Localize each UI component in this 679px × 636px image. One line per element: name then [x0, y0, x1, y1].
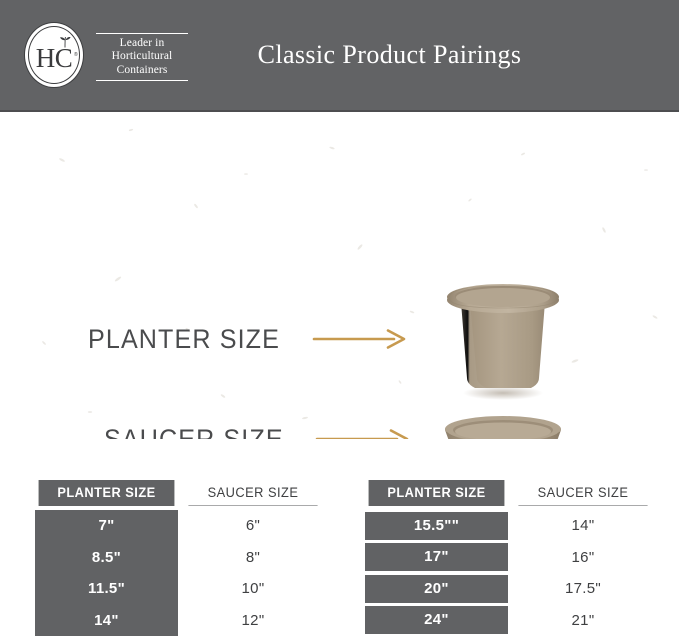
cell-saucer-size: 8": [185, 542, 321, 574]
column-header-planter-size: PLANTER SIZE: [39, 480, 175, 506]
table-body: 15.5"" 14" 17" 16" 20" 17.5" 24" 21": [365, 510, 650, 636]
logo-tagline-line-2: Horticultural: [96, 50, 188, 64]
cell-saucer-size: 6": [185, 510, 321, 542]
column-header-saucer-size: SAUCER SIZE: [518, 480, 647, 506]
hero-texture: [0, 112, 679, 439]
header-bar: HC ® Leader in Horticultural Containers …: [0, 0, 679, 112]
size-tables: PLANTER SIZE SAUCER SIZE 7" 6" 8.5" 8" 1…: [0, 480, 679, 636]
cell-planter-size: 11.5": [35, 573, 178, 605]
table-header-row: PLANTER SIZE SAUCER SIZE: [35, 480, 320, 506]
cell-planter-size: 17": [365, 543, 508, 571]
cell-planter-size: 15.5"": [365, 512, 508, 540]
table-row: 8.5" 8": [35, 542, 320, 574]
registered-mark-icon: ®: [74, 52, 78, 58]
cell-saucer-size: 12": [185, 605, 321, 636]
hero-panel: PLANTER SIZE: [0, 112, 679, 439]
cell-saucer-size: 16": [515, 542, 651, 574]
logo-tagline: Leader in Horticultural Containers: [96, 33, 188, 82]
cell-planter-size: 14": [35, 605, 178, 636]
logo-tagline-line-1: Leader in: [96, 37, 188, 51]
right-arrow-icon: [312, 328, 407, 350]
cell-saucer-size: 21": [515, 605, 651, 636]
column-header-planter-size: PLANTER SIZE: [369, 480, 505, 506]
size-table-small: PLANTER SIZE SAUCER SIZE 7" 6" 8.5" 8" 1…: [35, 480, 320, 636]
column-header-saucer-size: SAUCER SIZE: [188, 480, 317, 506]
table-header-row: PLANTER SIZE SAUCER SIZE: [365, 480, 650, 506]
cell-planter-size: 8.5": [35, 542, 178, 574]
table-row: 24" 21": [365, 605, 650, 636]
cell-planter-size: 24": [365, 606, 508, 634]
product-pairings-infographic: HC ® Leader in Horticultural Containers …: [0, 0, 679, 636]
cell-planter-size: 7": [35, 510, 178, 542]
table-row: 15.5"" 14": [365, 510, 650, 542]
size-table-large: PLANTER SIZE SAUCER SIZE 15.5"" 14" 17" …: [365, 480, 650, 636]
table-row: 20" 17.5": [365, 573, 650, 605]
cell-saucer-size: 14": [515, 510, 651, 542]
saucer-dish-icon: [437, 412, 569, 439]
logo-tagline-line-3: Containers: [96, 64, 188, 78]
planter-pot-icon: [437, 278, 569, 400]
cell-planter-size: 20": [365, 575, 508, 603]
table-row: 14" 12": [35, 605, 320, 636]
callout-saucer-label: SAUCER SIZE: [104, 424, 284, 440]
table-body: 7" 6" 8.5" 8" 11.5" 10" 14" 12": [35, 510, 320, 636]
logo-mark: HC ®: [22, 20, 90, 94]
brand-logo: HC ® Leader in Horticultural Containers: [22, 22, 188, 92]
table-row: 7" 6": [35, 510, 320, 542]
cell-saucer-size: 17.5": [515, 573, 651, 605]
table-row: 17" 16": [365, 542, 650, 574]
callout-saucer: SAUCER SIZE: [104, 422, 410, 439]
table-row: 11.5" 10": [35, 573, 320, 605]
right-arrow-icon: [315, 428, 410, 439]
cell-saucer-size: 10": [185, 573, 321, 605]
callout-planter: PLANTER SIZE: [88, 322, 407, 356]
callout-planter-label: PLANTER SIZE: [88, 324, 280, 355]
